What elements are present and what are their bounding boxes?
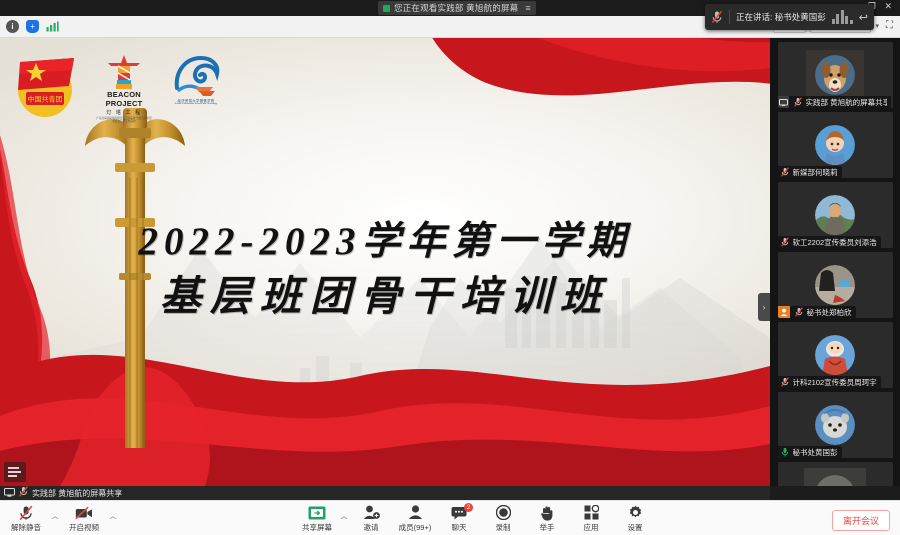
slide-title: 2022-2023学年第一学期 基层班团骨干培训班 [0, 218, 770, 322]
participant-name: 计科2102宣传委员周珂宇 [793, 377, 877, 388]
mic-off-icon [780, 376, 791, 388]
apps-button[interactable]: 应用 [569, 501, 613, 535]
start-video-button[interactable]: 开启视频 [62, 501, 106, 535]
share-screen-label: 共享屏幕 [302, 522, 332, 533]
mic-off-icon [711, 10, 723, 24]
audio-options-chevron-down-icon[interactable]: ︿ [50, 501, 60, 535]
chat-unread-badge: 2 [464, 503, 473, 512]
meeting-toolbar: 解除静音 ︿ 开启视频 ︿ [0, 500, 900, 535]
screen-share-icon [778, 96, 789, 108]
status-icon-group: i + [6, 20, 59, 33]
presentation-slide: 中国共青团 BEACON PROJECT 灯 塔 工 [0, 38, 770, 486]
participant-filmstrip[interactable]: 实践部 黄旭航的屏幕共享 [770, 38, 900, 486]
participant-nameplate: 实践部 黄旭航的屏幕共享 [778, 96, 891, 108]
network-signal-icon[interactable] [46, 20, 59, 33]
participant-tile[interactable]: 计科2102宣传委员周珂宇 [778, 322, 893, 388]
svg-text:中国共青团: 中国共青团 [28, 95, 63, 104]
mic-off-icon [780, 236, 791, 248]
zoom-meeting-window: 您正在观看实践部 黄旭航的屏幕 ≡ ❐ ✕ 正在讲话: 秘书处黄国彭 ↩ i + [0, 0, 900, 535]
slide-title-line2: 基层班团骨干培训班 [0, 270, 770, 322]
screen-share-icon [308, 505, 326, 521]
start-video-label: 开启视频 [69, 522, 99, 533]
beacon-project-logo: BEACON PROJECT 灯 塔 工 程 广东共青团青年思想引领工作品牌 全… [96, 54, 152, 118]
participant-nameplate: 计科2102宣传委员周珂宇 [778, 376, 881, 388]
participant-tile[interactable]: 软工2202宣传委员刘添浩 [778, 182, 893, 248]
avatar [815, 335, 855, 375]
raise-hand-label: 举手 [540, 522, 555, 533]
university-logo: 经济贸易大学团委学院 School of Information Science… [166, 54, 226, 118]
unmute-label: 解除静音 [11, 522, 41, 533]
participant-tile[interactable]: 秘书处郑柏欣 [778, 252, 893, 318]
participant-nameplate: 秘书处黄国彭 [778, 446, 842, 458]
toolbar-center-group: 共享屏幕 ︿ 邀请 [295, 501, 657, 535]
participant-name: 秘书处黄国彭 [793, 447, 838, 458]
participant-tile[interactable]: 大数据2005团支书江泽龙 [778, 462, 893, 486]
share-status-strip: 实践部 黄旭航的屏幕共享 [0, 486, 770, 500]
beacon-cn-label: 灯 塔 工 程 [96, 109, 152, 116]
divider [729, 10, 730, 24]
unmute-button[interactable]: 解除静音 [4, 501, 48, 535]
gear-icon [628, 505, 643, 521]
mic-off-icon [794, 306, 805, 318]
video-options-chevron-down-icon[interactable]: ︿ [108, 501, 118, 535]
participant-name: 新媒部何晓莉 [793, 167, 838, 178]
avatar [815, 405, 855, 445]
apps-label: 应用 [584, 522, 599, 533]
participants-icon [407, 505, 424, 521]
screen-share-indicator-icon [383, 5, 390, 12]
hamburger-icon[interactable]: ≡ [525, 3, 530, 13]
settings-button[interactable]: 设置 [613, 501, 657, 535]
beacon-title2: PROJECT [96, 100, 152, 108]
active-speaker-label: 正在讲话: 秘书处黄国彭 [736, 11, 826, 23]
share-options-chevron-down-icon[interactable]: ︿ [339, 501, 349, 535]
slide-logos: 中国共青团 BEACON PROJECT 灯 塔 工 [12, 54, 226, 120]
avatar [815, 125, 855, 165]
close-window-icon[interactable]: ✕ [884, 1, 892, 12]
record-icon [496, 505, 511, 521]
participant-tile[interactable]: 实践部 黄旭航的屏幕共享 [778, 42, 893, 108]
shared-screen-area[interactable]: 中国共青团 BEACON PROJECT 灯 塔 工 [0, 38, 770, 486]
participant-name: 软工2202宣传委员刘添浩 [793, 237, 877, 248]
watching-screen-label: 您正在观看实践部 黄旭航的屏幕 [394, 2, 518, 14]
encryption-shield-icon[interactable]: + [26, 20, 39, 33]
toolbar-left-group: 解除静音 ︿ 开启视频 ︿ [4, 501, 118, 535]
participant-tile-active-speaker[interactable]: 秘书处黄国彭 [778, 392, 893, 458]
avatar [815, 265, 855, 305]
invite-person-icon [363, 505, 380, 521]
active-speaker-float[interactable]: 正在讲话: 秘书处黄国彭 ↩ [705, 4, 874, 30]
video-off-icon [75, 505, 93, 521]
participant-tile[interactable]: 新媒部何晓莉 [778, 112, 893, 178]
host-badge-icon [778, 306, 790, 318]
participants-label: 成员(99+) [399, 522, 432, 533]
avatar [815, 195, 855, 235]
participant-nameplate: 软工2202宣传委员刘添浩 [778, 236, 881, 248]
raise-hand-icon [540, 505, 554, 521]
avatar [815, 55, 855, 95]
mic-off-icon [19, 505, 33, 521]
collapse-filmstrip-handle[interactable]: › [758, 293, 770, 321]
audio-wave-icon [832, 10, 853, 24]
settings-label: 设置 [628, 522, 643, 533]
mic-off-icon [780, 166, 791, 178]
university-en-label: School of Information Science and Techno… [166, 103, 226, 105]
participant-name: 秘书处郑柏欣 [807, 307, 852, 318]
watching-screen-banner[interactable]: 您正在观看实践部 黄旭航的屏幕 ≡ [378, 1, 536, 15]
record-button[interactable]: 录制 [481, 501, 525, 535]
chevron-down-icon[interactable]: ▾ [875, 22, 879, 30]
chat-label: 聊天 [452, 522, 467, 533]
invite-label: 邀请 [364, 522, 379, 533]
presenter-status-label: 实践部 黄旭航的屏幕共享 [32, 488, 122, 499]
invite-button[interactable]: 邀请 [349, 501, 393, 535]
share-screen-button[interactable]: 共享屏幕 [295, 501, 339, 535]
participants-button[interactable]: 成员(99+) [393, 501, 437, 535]
beacon-sub-label: 广东共青团青年思想引领工作品牌 全国共青团思想政治引领工作品牌 [96, 117, 152, 124]
mic-off-icon [793, 96, 804, 108]
record-label: 录制 [496, 522, 511, 533]
beacon-title: BEACON [96, 91, 152, 99]
apps-grid-icon [584, 505, 599, 521]
communist-youth-league-emblem: 中国共青团 [12, 54, 82, 120]
mic-on-icon [780, 446, 791, 458]
participant-nameplate: 秘书处郑柏欣 [778, 306, 856, 318]
fullscreen-icon[interactable]: ⛶ [883, 20, 896, 31]
participant-name: 实践部 黄旭航的屏幕共享 [806, 97, 887, 108]
chat-button[interactable]: 2 聊天 [437, 501, 481, 535]
leave-meeting-button[interactable]: 离开会议 [832, 510, 890, 531]
slide-title-line1: 2022-2023学年第一学期 [0, 218, 770, 266]
slide-menu-icon[interactable] [4, 462, 26, 482]
participant-nameplate: 新媒部何晓莉 [778, 166, 842, 178]
back-arrow-icon[interactable]: ↩ [859, 11, 868, 24]
raise-hand-button[interactable]: 举手 [525, 501, 569, 535]
info-icon[interactable]: i [6, 20, 19, 33]
